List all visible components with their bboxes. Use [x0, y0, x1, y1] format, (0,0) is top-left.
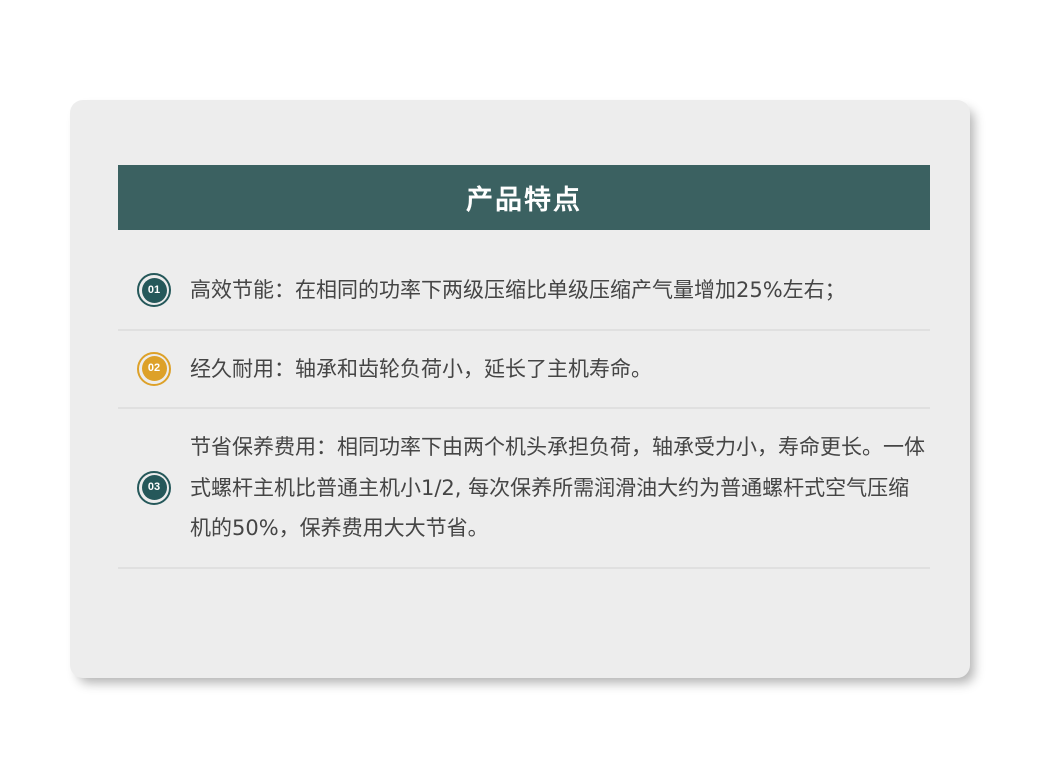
badge-cell: 01 [118, 273, 190, 307]
card-header-bar: 产品特点 [118, 165, 930, 230]
page-root: 产品特点 01 高效节能：在相同的功率下两级压缩比单级压缩产气量增加25%左右； [0, 0, 1060, 775]
badge-cell: 02 [118, 352, 190, 386]
badge-disc: 03 [142, 475, 167, 500]
feature-list: 01 高效节能：在相同的功率下两级压缩比单级压缩产气量增加25%左右； 02 经… [118, 252, 930, 569]
badge-disc: 01 [142, 278, 167, 303]
list-item: 03 节省保养费用：相同功率下由两个机头承担负荷，轴承受力小，寿命更长。一体式螺… [118, 409, 930, 569]
badge-number: 03 [148, 482, 160, 493]
badge-disc: 02 [142, 356, 167, 381]
list-item: 01 高效节能：在相同的功率下两级压缩比单级压缩产气量增加25%左右； [118, 252, 930, 331]
product-features-card: 产品特点 01 高效节能：在相同的功率下两级压缩比单级压缩产气量增加25%左右； [70, 100, 970, 678]
list-item: 02 经久耐用：轴承和齿轮负荷小，延长了主机寿命。 [118, 331, 930, 410]
feature-text: 节省保养费用：相同功率下由两个机头承担负荷，轴承受力小，寿命更长。一体式螺杆主机… [190, 427, 930, 549]
badge-number: 01 [148, 285, 160, 296]
number-badge-03: 03 [137, 471, 171, 505]
number-badge-02: 02 [137, 352, 171, 386]
badge-cell: 03 [118, 471, 190, 505]
badge-number: 02 [148, 363, 160, 374]
feature-text: 经久耐用：轴承和齿轮负荷小，延长了主机寿命。 [190, 349, 930, 390]
number-badge-01: 01 [137, 273, 171, 307]
feature-text: 高效节能：在相同的功率下两级压缩比单级压缩产气量增加25%左右； [190, 270, 930, 311]
page-title: 产品特点 [466, 178, 582, 217]
